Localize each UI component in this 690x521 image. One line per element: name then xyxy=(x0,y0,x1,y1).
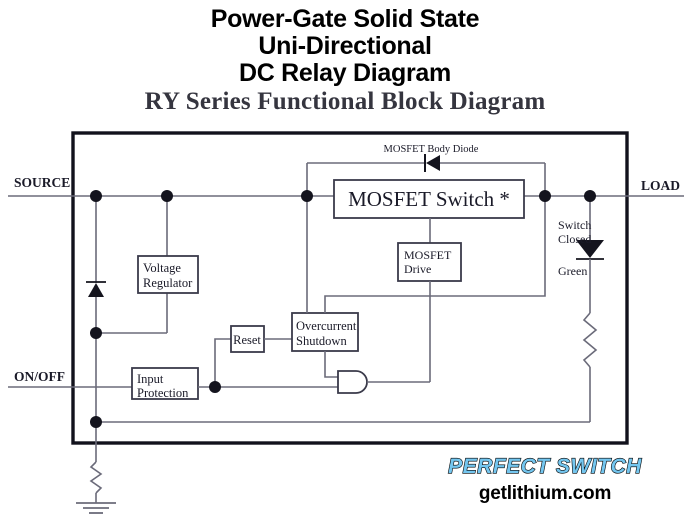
mosfet-drive-label-2: Drive xyxy=(404,262,431,276)
brand-name: PERFECT SWITCH xyxy=(415,455,675,479)
led-series-resistor xyxy=(584,313,596,367)
and-gate-input-a-wire xyxy=(325,351,338,377)
node-vreg-return xyxy=(90,327,102,339)
load-label: LOAD xyxy=(641,178,680,193)
diagram-page: Power-Gate Solid State Uni-Directional D… xyxy=(0,0,690,521)
brand-website: getlithium.com xyxy=(415,482,675,506)
brand-block: PERFECT SWITCH getlithium.com xyxy=(415,455,675,506)
led-label-2: Closed xyxy=(558,232,591,246)
node-return-bus xyxy=(90,416,102,428)
reset-label: Reset xyxy=(233,333,261,347)
voltage-regulator-label-1: Voltage xyxy=(143,261,181,275)
node-led-tap xyxy=(584,190,596,202)
node-mosfet-out xyxy=(539,190,551,202)
reset-input-wire xyxy=(215,339,231,387)
tvs-diode-triangle xyxy=(88,283,104,297)
voltage-regulator-label-2: Regulator xyxy=(143,276,193,290)
mosfet-switch-label: MOSFET Switch * xyxy=(348,187,510,211)
overcurrent-label-2: Shutdown xyxy=(296,334,347,348)
node-source-tvs xyxy=(90,190,102,202)
input-protection-label-2: Protection xyxy=(137,386,189,400)
onoff-label: ON/OFF xyxy=(14,369,65,384)
node-onoff-reset xyxy=(209,381,221,393)
body-diode-triangle xyxy=(426,155,440,171)
ground-resistor xyxy=(91,462,101,493)
led-color-label: Green xyxy=(558,264,587,278)
node-source-vreg xyxy=(161,190,173,202)
body-diode-label: MOSFET Body Diode xyxy=(384,144,479,155)
circuit-diagram: .w { stroke: #6b6b7a; stroke-width: 1.6;… xyxy=(0,0,690,521)
overcurrent-label-1: Overcurrent xyxy=(296,319,357,333)
mosfet-drive-label-1: MOSFET xyxy=(404,248,452,262)
input-protection-label-1: Input xyxy=(137,372,164,386)
node-mosfet-in xyxy=(301,190,313,202)
and-gate-symbol xyxy=(338,371,367,393)
led-label-1: Switch xyxy=(558,218,591,232)
source-label: SOURCE xyxy=(14,175,70,190)
